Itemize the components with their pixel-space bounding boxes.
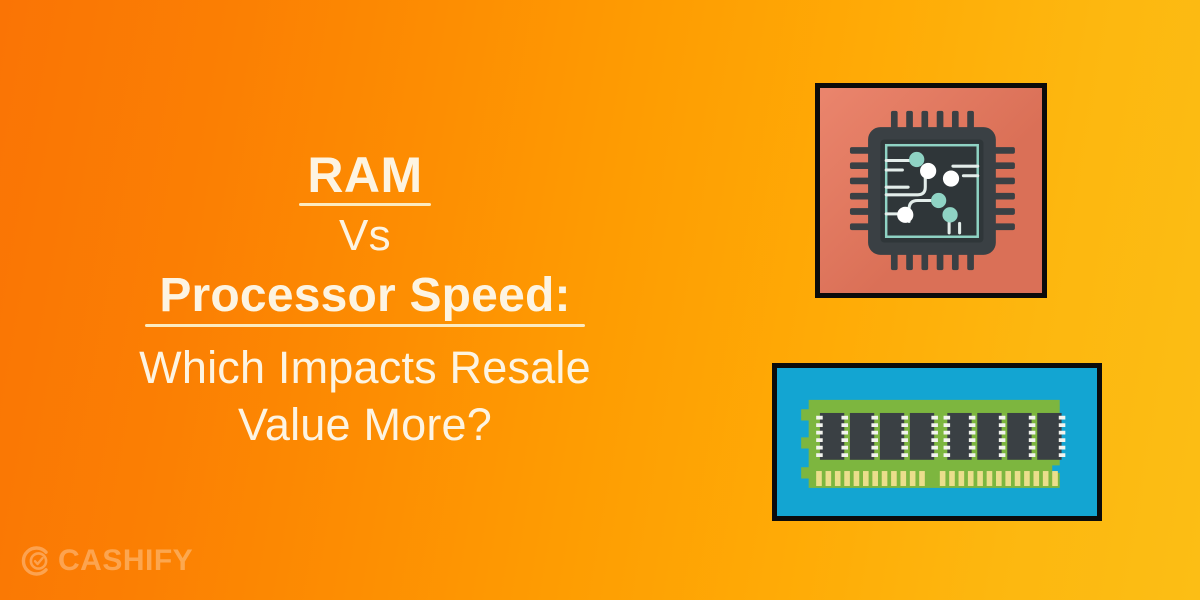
- processor-image-card: [815, 83, 1047, 298]
- title-line-vs-text: Vs: [339, 214, 391, 258]
- ram-image-card: [772, 363, 1102, 521]
- cashify-c-check-icon: [18, 544, 52, 578]
- page-title: RAM Vs Processor Speed: Which Impacts Re…: [0, 150, 730, 447]
- cpu-chip-illustration: [820, 88, 1042, 293]
- title-line-question-1-text: Which Impacts Resale: [139, 345, 591, 390]
- cashify-wordmark: CASHIFY: [58, 546, 193, 576]
- title-line-question-2-text: Value More?: [238, 402, 492, 447]
- ram-module-illustration: [777, 368, 1097, 516]
- title-line-ram-text: RAM: [301, 150, 428, 208]
- title-line-processor-speed: Processor Speed:: [0, 272, 730, 329]
- title-line-question-2: Value More?: [0, 402, 730, 447]
- title-line-ram: RAM: [0, 150, 730, 208]
- cashify-logo: CASHIFY: [18, 544, 193, 578]
- title-line-processor-speed-text: Processor Speed:: [153, 272, 576, 329]
- title-line-vs: Vs: [0, 214, 730, 258]
- title-line-question-1: Which Impacts Resale: [0, 345, 730, 390]
- banner-canvas: RAM Vs Processor Speed: Which Impacts Re…: [0, 0, 1200, 600]
